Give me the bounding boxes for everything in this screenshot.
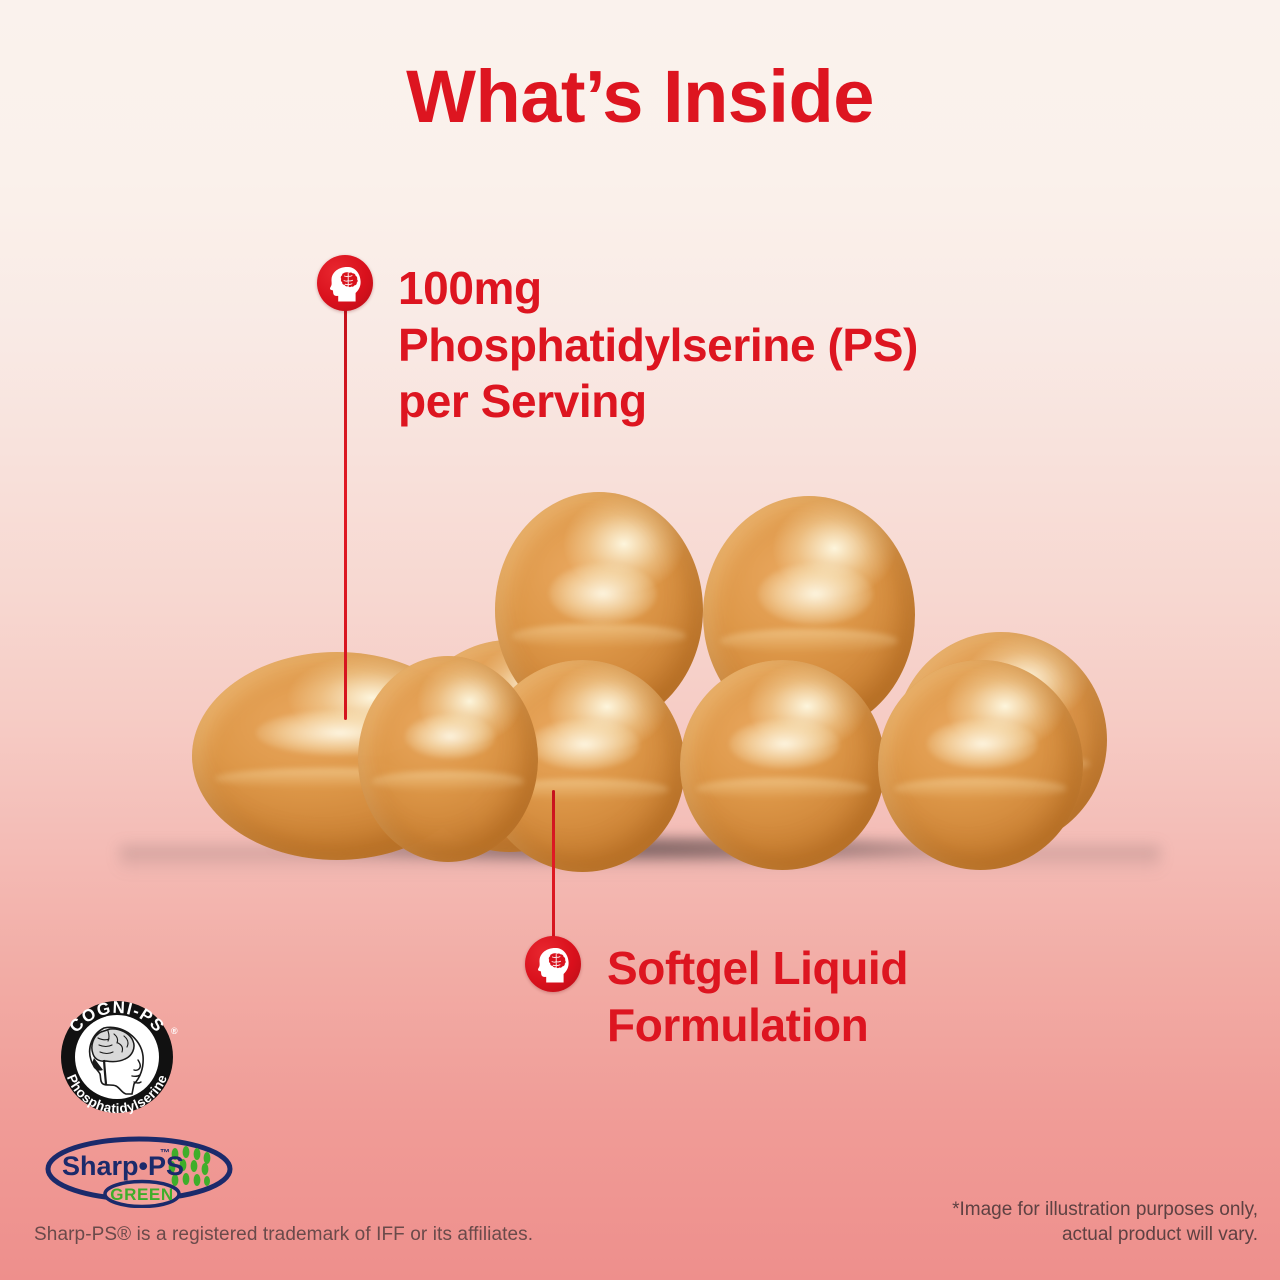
- svg-text:™: ™: [160, 1148, 170, 1159]
- trademark-note: Sharp-PS® is a registered trademark of I…: [34, 1224, 533, 1246]
- callout-softgel-form-label: Softgel Liquid Formulation: [607, 940, 1247, 1053]
- page-title: What’s Inside: [0, 58, 1280, 136]
- brain-head-icon: [317, 255, 373, 311]
- capsule: [680, 660, 885, 870]
- callout-ps-dose-label: 100mg Phosphatidylserine (PS) per Servin…: [398, 260, 1118, 430]
- leader-line-ps-dose: [344, 306, 347, 720]
- sharp-ps-green-logo: Sharp•PS ™ GREEN: [44, 1134, 234, 1208]
- capsule: [878, 660, 1083, 870]
- illustration-disclaimer: *Image for illustration purposes only, a…: [828, 1197, 1258, 1248]
- cogni-ps-logo: COGNI-PS Phosphatidylserine ®: [46, 998, 188, 1116]
- brain-head-icon: [525, 936, 581, 992]
- svg-text:GREEN: GREEN: [110, 1185, 173, 1204]
- softgel-capsule-pile: [150, 470, 1140, 890]
- leader-line-softgel-form: [552, 790, 555, 942]
- capsule: [358, 656, 538, 862]
- svg-text:®: ®: [171, 1026, 178, 1036]
- infographic-canvas: What’s Inside: [0, 0, 1280, 1280]
